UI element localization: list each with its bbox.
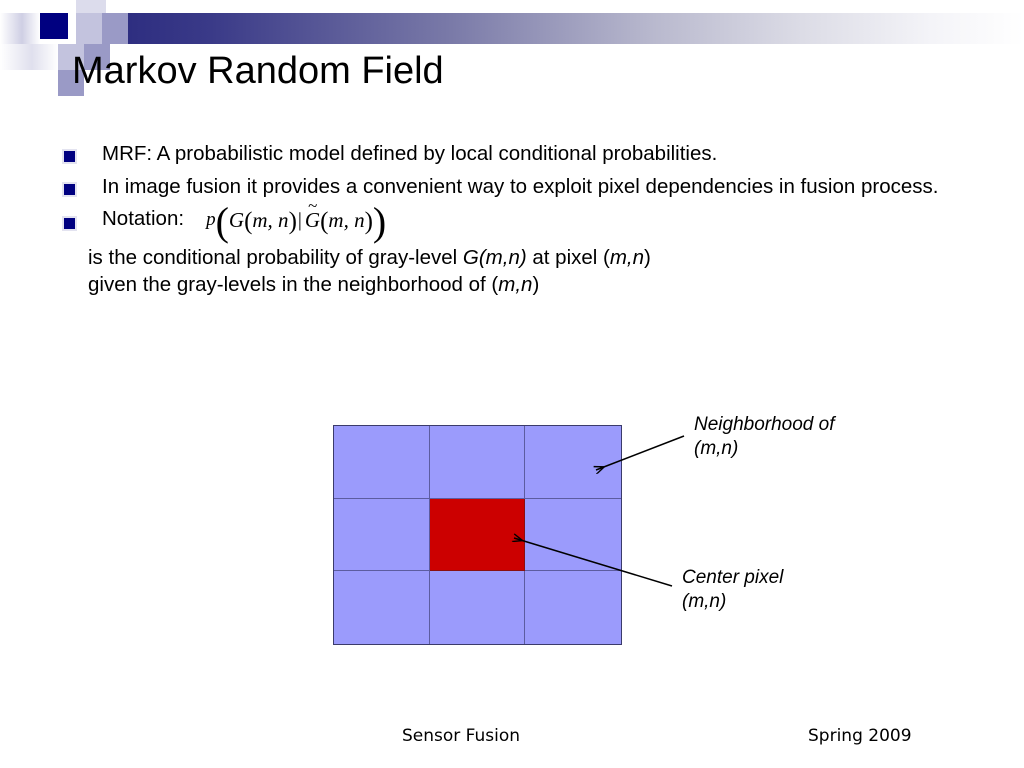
label-neighborhood-line2: (m,n) [694,437,835,461]
deco-square-navy [40,13,68,39]
deco-square-mid-upper [102,13,128,44]
grid-cell-2-3[interactable] [525,499,621,572]
explanation-part-4: given the gray-levels in the neighborhoo… [88,273,498,296]
deco-square-pale-top [76,0,106,14]
label-center-line1: Center pixel [682,566,783,590]
formula-g1-args: m, n [252,208,288,233]
deco-square-light-upper [76,13,102,44]
formula-p: p [206,209,216,231]
formula-given-bar: | [297,209,305,232]
formula-g2-tilde-group: ~G [305,208,320,233]
footer-term: Spring 2009 [808,726,912,746]
explanation-part-2: at pixel ( [527,246,610,269]
bullet-item-1: MRF: A probabilistic model defined by lo… [0,140,1024,167]
grid-cell-1-1[interactable] [334,426,430,499]
bullet-text-2: In image fusion it provides a convenient… [102,173,938,200]
footer-course-name: Sensor Fusion [402,726,520,746]
explanation-symbol-2: m,n [610,246,644,269]
bullet-item-notation: Notation: p(G(m, n)|~G(m, n)) [0,207,1024,232]
slide-footer: Sensor Fusion Spring 2009 [0,726,1024,768]
label-neighborhood-line1: Neighborhood of [694,413,835,437]
grid-cell-2-1[interactable] [334,499,430,572]
deco-square-fade-lower [0,44,58,70]
grid-cell-3-1[interactable] [334,571,430,644]
grid-cell-center-pixel[interactable] [430,499,526,572]
grid-cell-3-3[interactable] [525,571,621,644]
label-center-pixel: Center pixel (m,n) [682,566,783,615]
bullet-item-2: In image fusion it provides a convenient… [0,173,1024,200]
explanation-symbol-1: G(m,n) [463,246,527,269]
grid-cell-3-2[interactable] [430,571,526,644]
bullet-marker-icon [62,216,77,231]
page-title: Markov Random Field [72,50,444,93]
bullet-marker-icon [62,182,77,197]
explanation-part-5: ) [532,273,539,296]
explanation-part-3: ) [644,246,651,269]
formula-close-paren: ) [373,210,386,234]
grid-cell-1-2[interactable] [430,426,526,499]
tilde-accent-icon: ~ [308,197,317,214]
deco-square-fade-left [0,13,40,44]
annotation-arrows [0,0,1024,768]
explanation-part-1: is the conditional probability of gray-l… [88,246,463,269]
explanation-symbol-3: m,n [498,273,532,296]
grid-cell-1-3[interactable] [525,426,621,499]
explanation-paragraph: is the conditional probability of gray-l… [88,244,968,300]
formula-g1-close: ) [289,214,297,229]
notation-formula: p(G(m, n)|~G(m, n)) [206,208,386,233]
formula-g1-open: ( [244,214,252,229]
bullet-marker-icon [62,149,77,164]
label-neighborhood-of: Neighborhood of (m,n) [694,413,835,462]
notation-label: Notation: [102,207,184,231]
formula-g2-args: m, n [328,208,364,233]
formula-open-paren: ( [216,210,229,234]
slide-body: MRF: A probabilistic model defined by lo… [0,140,1024,299]
formula-g2-close: ) [365,214,373,229]
header-gradient-bar [100,13,1024,44]
pixel-grid[interactable] [333,425,622,645]
formula-g1: G [229,208,244,233]
neighborhood-diagram: Neighborhood of (m,n) Center pixel (m,n) [0,0,1024,768]
label-center-line2: (m,n) [682,590,783,614]
formula-g2-open: ( [320,214,328,229]
bullet-text-1: MRF: A probabilistic model defined by lo… [102,140,717,167]
